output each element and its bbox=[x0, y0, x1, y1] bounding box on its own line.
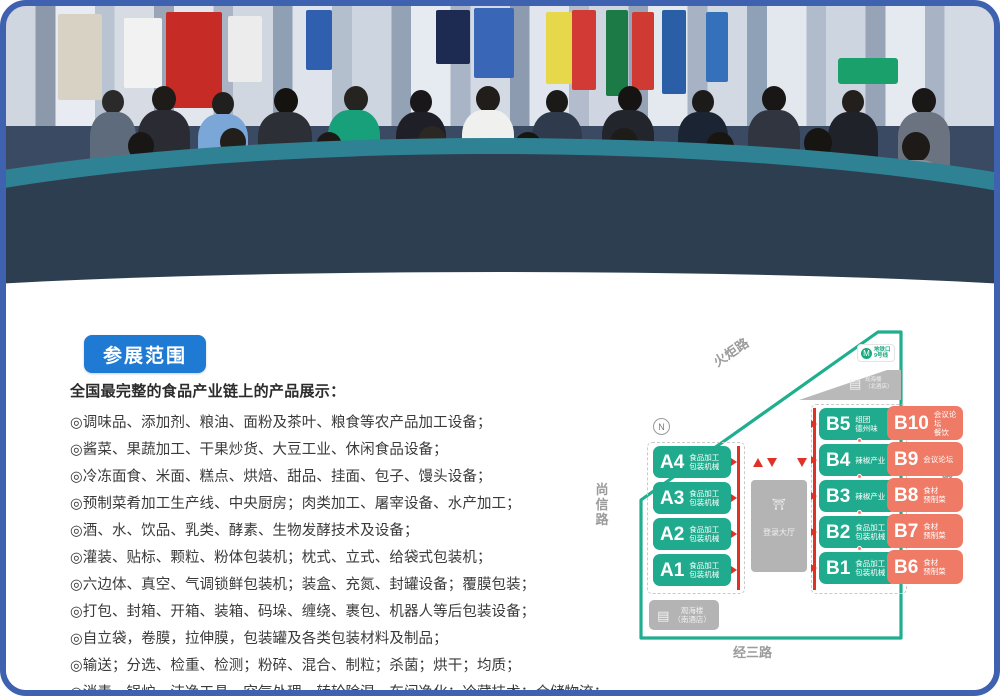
hall-desc: 食材 预制菜 bbox=[923, 522, 946, 540]
entrance-arrow bbox=[811, 528, 817, 536]
poster-page: 参展范围 全国最完整的食品产业链上的产品展示： ◎调味品、添加剂、粮油、面粉及茶… bbox=[0, 0, 1000, 696]
scope-badge: 参展范围 bbox=[84, 335, 206, 373]
hall-B10[interactable]: B10 会议论坛 餐饮 bbox=[887, 406, 963, 440]
scope-line: ◎预制菜肴加工生产线、中央厨房；肉类加工、屠宰设备、水产加工； bbox=[70, 491, 580, 518]
hall-desc: 食材 预制菜 bbox=[923, 558, 946, 576]
wave-mask bbox=[6, 272, 994, 306]
scope-line: ◎自立袋，卷膜，拉伸膜，包装罐及各类包装材料及制品； bbox=[70, 626, 580, 653]
hall-desc: 食品加工 包装机械 bbox=[689, 561, 719, 579]
corridor-line-a bbox=[737, 446, 740, 590]
scope-line: ◎调味品、添加剂、粮油、面粉及茶叶、粮食等农产品加工设备； bbox=[70, 410, 580, 437]
entrance-arrow bbox=[811, 492, 817, 500]
hall-B3[interactable]: B3 辣椒产业 bbox=[819, 480, 897, 512]
lobby-gate-icon: ⛩ bbox=[751, 498, 807, 511]
hall-desc: 食品加工 包装机械 bbox=[689, 525, 719, 543]
main-content: 参展范围 全国最完整的食品产业链上的产品展示： ◎调味品、添加剂、粮油、面粉及茶… bbox=[6, 306, 994, 696]
scope-heading: 全国最完整的食品产业链上的产品展示： bbox=[70, 380, 580, 401]
entrance-arrow bbox=[811, 456, 817, 464]
hall-desc: 会议论坛 bbox=[923, 455, 953, 464]
hall-code: B4 bbox=[826, 451, 850, 470]
scope-line: ◎酒、水、饮品、乳类、酵素、生物发酵技术及设备； bbox=[70, 518, 580, 545]
entrance-arrow bbox=[731, 458, 737, 466]
metro-entrance-icon[interactable]: M 地铁口 9号线 bbox=[857, 344, 895, 362]
road-label-top: 火炬路 bbox=[709, 333, 752, 371]
hall-A4[interactable]: A4 食品加工 包装机械 bbox=[653, 446, 731, 478]
road-label-left: 尚信路 bbox=[595, 482, 609, 527]
hall-code: A3 bbox=[660, 489, 684, 508]
traffic-arrow-down bbox=[797, 458, 807, 467]
hall-desc: 辣椒产业 bbox=[855, 456, 885, 465]
compass-icon: N bbox=[653, 418, 670, 435]
registration-lobby[interactable]: ⛩ 登录大厅 bbox=[751, 480, 807, 572]
booth-sign bbox=[474, 8, 514, 78]
south-hotel-label: 观海楼 （南酒店） bbox=[673, 606, 711, 624]
north-hotel-glyph: ▤ bbox=[849, 376, 861, 392]
booth-sign bbox=[838, 58, 898, 84]
traffic-arrow-up bbox=[753, 458, 763, 467]
hall-A1[interactable]: A1 食品加工 包装机械 bbox=[653, 554, 731, 586]
hall-code: B7 bbox=[894, 522, 918, 541]
scope-line: ◎灌装、贴标、颗粒、粉体包装机；枕式、立式、给袋式包装机； bbox=[70, 545, 580, 572]
scope-line: ◎打包、封箱、开箱、装箱、码垛、缠绕、裹包、机器人等后包装设备； bbox=[70, 599, 580, 626]
road-label-bottom: 经三路 bbox=[733, 642, 772, 661]
scope-line: ◎酱菜、果蔬加工、干果炒货、大豆工业、休闲食品设备； bbox=[70, 437, 580, 464]
hall-desc: 食品加工 包装机械 bbox=[855, 559, 885, 577]
hall-code: B5 bbox=[826, 415, 850, 434]
hall-connector-dot bbox=[857, 510, 862, 515]
hall-desc: 食品加工 包装机械 bbox=[689, 489, 719, 507]
hall-B6[interactable]: B6 食材 预制菜 bbox=[887, 550, 963, 584]
metro-logo-icon: M bbox=[861, 348, 872, 359]
booth-sign bbox=[306, 10, 332, 70]
booth-sign bbox=[572, 10, 596, 90]
booth-sign bbox=[632, 12, 654, 90]
north-hotel-building: ▤ 观海楼 （北酒店） bbox=[799, 368, 901, 400]
hall-connector-dot bbox=[857, 474, 862, 479]
hall-B2[interactable]: B2 食品加工 包装机械 bbox=[819, 516, 897, 548]
entrance-arrow bbox=[811, 420, 817, 428]
entrance-arrow bbox=[731, 530, 737, 538]
hall-code: B6 bbox=[894, 558, 918, 577]
south-hotel-glyph: ▤ bbox=[657, 611, 669, 620]
hall-B8[interactable]: B8 食材 预制菜 bbox=[887, 478, 963, 512]
hall-desc: 辣椒产业 bbox=[855, 492, 885, 501]
hall-code: B1 bbox=[826, 559, 850, 578]
hall-B5[interactable]: B5 组团 德州味 bbox=[819, 408, 897, 440]
hall-desc: 组团 德州味 bbox=[855, 415, 878, 433]
hall-desc: 食材 预制菜 bbox=[923, 486, 946, 504]
entrance-arrow bbox=[811, 564, 817, 572]
booth-sign bbox=[124, 18, 162, 88]
hall-code: A2 bbox=[660, 525, 684, 544]
hall-code: A1 bbox=[660, 561, 684, 580]
scope-line: ◎冷冻面食、米面、糕点、烘焙、甜品、挂面、包子、馒头设备； bbox=[70, 464, 580, 491]
header-banner bbox=[6, 6, 994, 306]
hall-code: B9 bbox=[894, 450, 918, 469]
north-hotel-label: 观海楼 （北酒店） bbox=[865, 377, 893, 390]
hall-code: B8 bbox=[894, 486, 918, 505]
hall-desc: 食品加工 包装机械 bbox=[689, 453, 719, 471]
booth-sign bbox=[436, 10, 470, 64]
booth-sign bbox=[706, 12, 728, 82]
scope-line: ◎六边体、真空、气调锁鲜包装机；装盒、充氮、封罐设备；覆膜包装； bbox=[70, 572, 580, 599]
venue-floor-map[interactable]: 火炬路 尚信路 敦信路 经三路 M 地铁口 9号线 ▤ 观海楼 （ bbox=[581, 320, 986, 690]
hall-code: A4 bbox=[660, 453, 684, 472]
hall-A3[interactable]: A3 食品加工 包装机械 bbox=[653, 482, 731, 514]
metro-line2: 9号线 bbox=[874, 353, 891, 359]
hall-connector-dot bbox=[857, 438, 862, 443]
lobby-label: 登录大厅 bbox=[751, 527, 807, 538]
hall-B9[interactable]: B9 会议论坛 bbox=[887, 442, 963, 476]
metro-label: 地铁口 9号线 bbox=[874, 347, 891, 359]
hall-desc: 食品加工 包装机械 bbox=[855, 523, 885, 541]
hall-B7[interactable]: B7 食材 预制菜 bbox=[887, 514, 963, 548]
hall-A2[interactable]: A2 食品加工 包装机械 bbox=[653, 518, 731, 550]
entrance-arrow bbox=[731, 494, 737, 502]
hall-B4[interactable]: B4 辣椒产业 bbox=[819, 444, 897, 476]
hall-B1[interactable]: B1 食品加工 包装机械 bbox=[819, 552, 897, 584]
traffic-arrow-down bbox=[767, 458, 777, 467]
hall-code: B2 bbox=[826, 523, 850, 542]
scope-line: ◎输送；分选、检重、检测；粉碎、混合、制粒；杀菌；烘干；均质； bbox=[70, 653, 580, 680]
south-hotel-building: ▤ 观海楼 （南酒店） bbox=[649, 600, 719, 630]
hall-desc: 会议论坛 餐饮 bbox=[934, 410, 963, 437]
hall-connector-dot bbox=[857, 546, 862, 551]
hall-code: B10 bbox=[894, 414, 929, 433]
booth-sign bbox=[546, 12, 572, 84]
scope-line: ◎消毒、锅炉、洁净工具、空气处理、转轮除湿、车间净化；冷藏技术；仓储物流； bbox=[70, 680, 580, 696]
booth-sign bbox=[228, 16, 262, 82]
scope-text-block: 全国最完整的食品产业链上的产品展示： ◎调味品、添加剂、粮油、面粉及茶叶、粮食等… bbox=[70, 380, 580, 696]
entrance-arrow bbox=[731, 566, 737, 574]
hall-code: B3 bbox=[826, 487, 850, 506]
